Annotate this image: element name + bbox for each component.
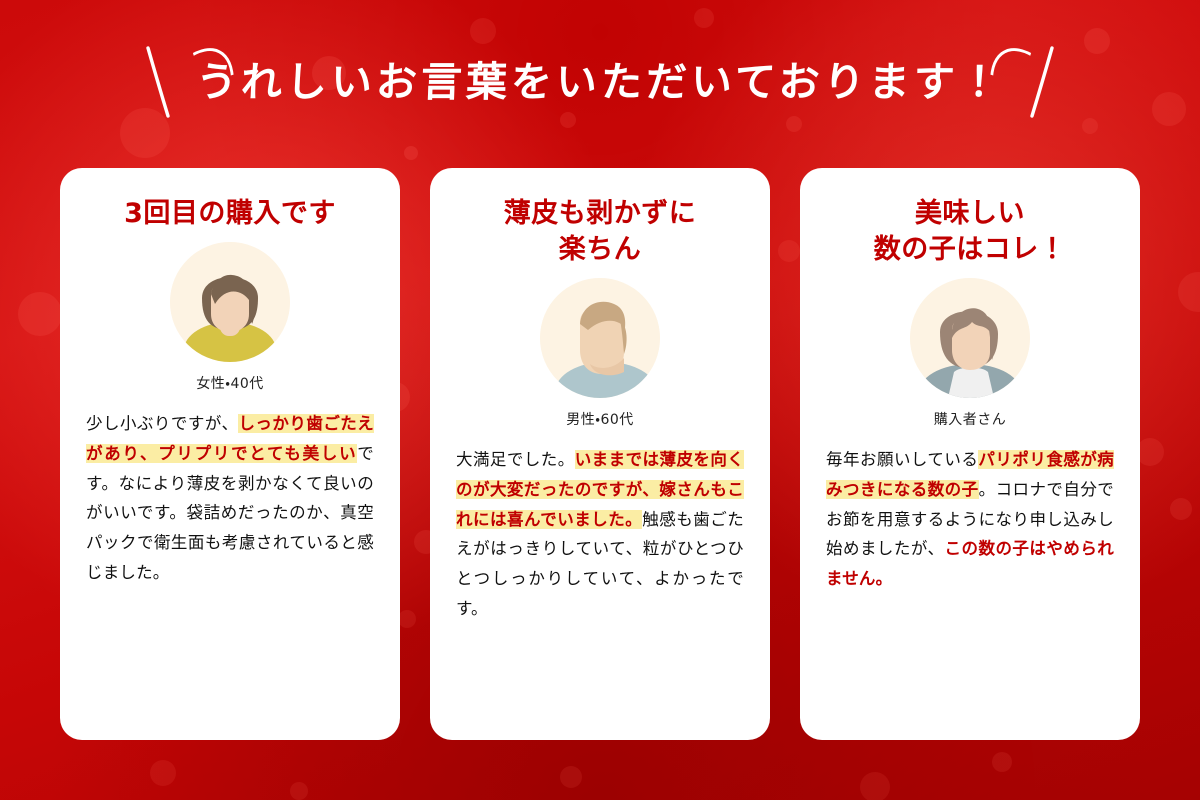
card-title: 3回目の購入です: [86, 196, 374, 232]
text-segment-plain: 少し小ぶりですが、: [86, 414, 238, 433]
persona-label: 女性・40代: [86, 373, 374, 393]
bokeh-circle: [150, 760, 176, 786]
card-title: 薄皮も剥かずに 楽ちん: [456, 196, 744, 268]
bokeh-circle: [778, 240, 800, 262]
slash-left-icon: [146, 45, 172, 119]
avatar-man-blue-shirt-icon: [540, 278, 660, 398]
page-title: うれしいお言葉をいただいております！: [196, 62, 1005, 103]
bokeh-circle: [860, 772, 890, 800]
avatar-woman-apron-icon: [910, 278, 1030, 398]
avatar: [826, 278, 1114, 398]
bokeh-circle: [398, 610, 416, 628]
bokeh-circle: [992, 752, 1012, 772]
bokeh-circle: [1136, 438, 1164, 466]
bokeh-circle: [694, 8, 714, 28]
bokeh-circle: [560, 766, 582, 788]
card-title: 美味しい 数の子はコレ！: [826, 196, 1114, 268]
text-segment-plain: なにより薄皮を剥かなくて良いのがいいです。袋詰めだったのか、真空パックで衛生面も…: [86, 474, 374, 582]
testimonial-body: 少し小ぶりですが、しっかり歯ごたえがあり、プリプリでとても美しいです。なにより薄…: [86, 409, 374, 587]
text-segment-plain: 毎年お願いしている: [826, 450, 978, 469]
persona-label: 男性・60代: [456, 409, 744, 429]
avatar: [456, 278, 744, 398]
slash-right-icon: [1028, 45, 1054, 119]
persona-label: 購入者さん: [826, 409, 1114, 429]
bokeh-circle: [1170, 498, 1192, 520]
avatar: [86, 242, 374, 362]
bokeh-circle: [404, 146, 418, 160]
testimonial-banner: うれしいお言葉をいただいております！ 3回目の購入です: [0, 0, 1200, 800]
testimonial-card[interactable]: 3回目の購入です 女性・40代 少し小ぶりですが、しっかり歯ごたえがあり: [60, 168, 400, 740]
testimonial-body: 大満足でした。いままでは薄皮を向くのが大変だったのですが、嫁さんもこれには喜んで…: [456, 445, 744, 623]
bokeh-circle: [18, 292, 62, 336]
bokeh-circle: [290, 782, 308, 800]
testimonial-card[interactable]: 薄皮も剥かずに 楽ちん 男性・60代 大満足でした。いままでは薄皮を向くのが大変…: [430, 168, 770, 740]
avatar-woman-yellow-top-icon: [170, 242, 290, 362]
testimonial-card[interactable]: 美味しい 数の子はコレ！ 購入者さん 毎年お願いしている: [800, 168, 1140, 740]
headline-block: うれしいお言葉をいただいております！: [0, 36, 1200, 128]
text-segment-plain: 大満足でした。: [456, 450, 575, 469]
testimonial-body: 毎年お願いしているパリポリ食感が病みつきになる数の子。コロナで自分でお節を用意す…: [826, 445, 1114, 593]
